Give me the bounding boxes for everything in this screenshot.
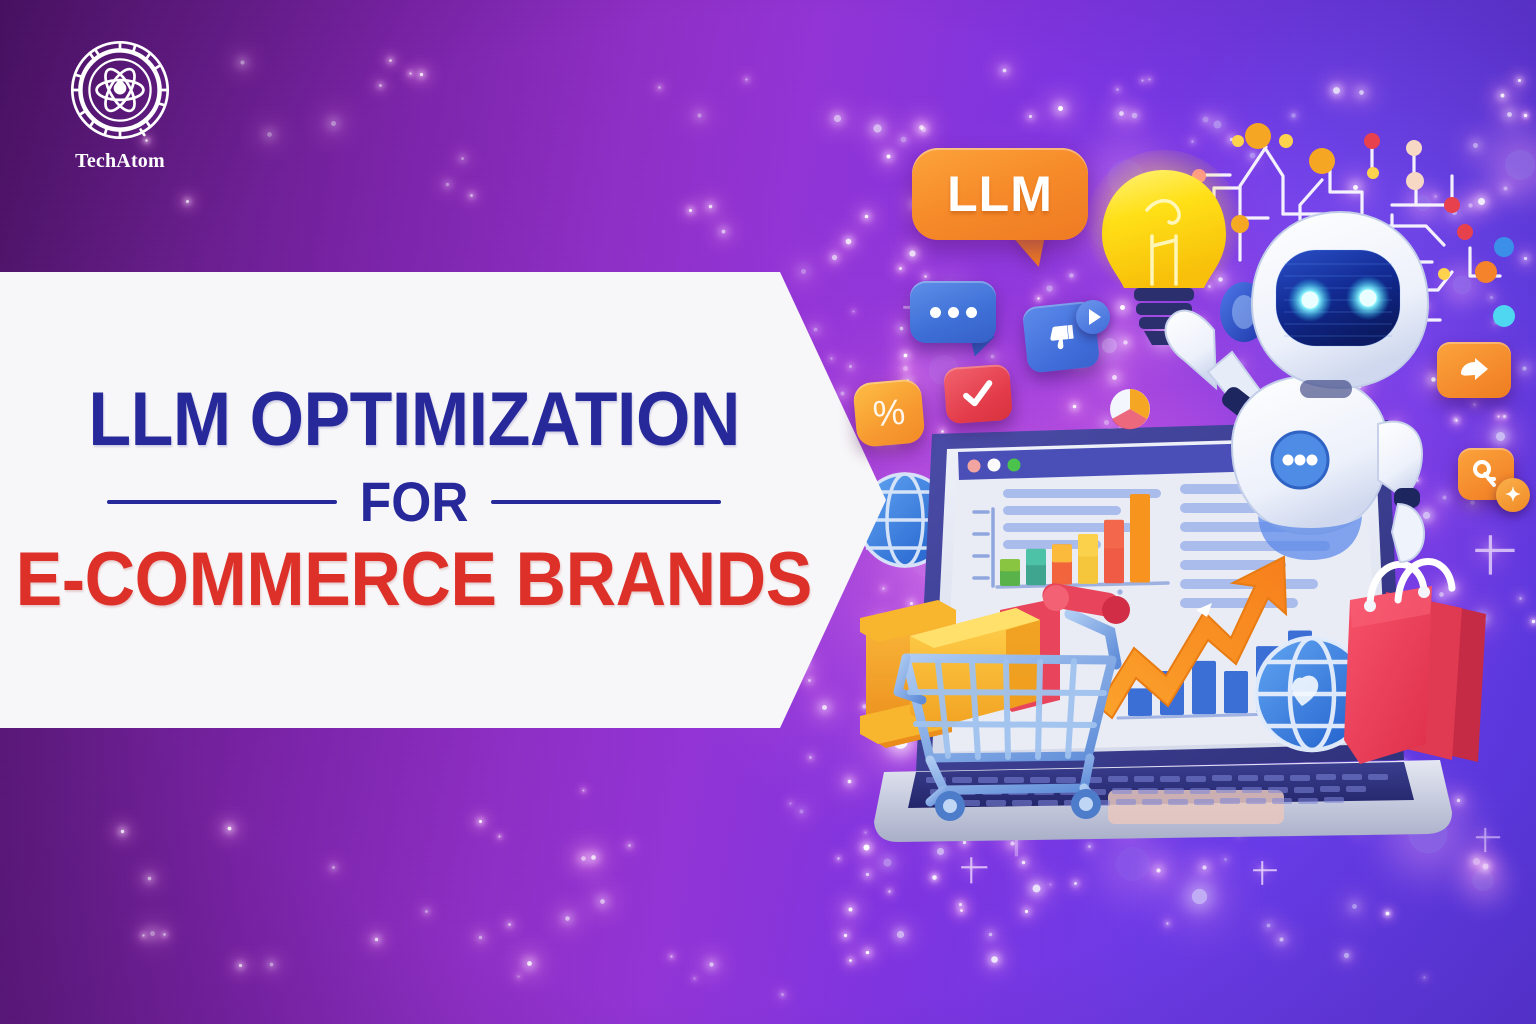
percent-icon[interactable]: %: [852, 378, 925, 448]
brand-logo[interactable]: TechAtom: [60, 36, 180, 173]
chat-dots-icon[interactable]: [910, 281, 996, 343]
play-triangle: [1089, 309, 1101, 325]
bar-top-segment: [1104, 520, 1124, 549]
bar-top-segment: [1078, 534, 1098, 556]
headline-connector: FOR: [360, 474, 469, 530]
divider-left: [107, 500, 337, 504]
divider-right: [491, 500, 721, 504]
browser-dot-green: [1008, 459, 1021, 472]
percent-glyph: %: [871, 391, 907, 436]
checkmark-icon[interactable]: [943, 364, 1013, 424]
bar-top-segment: [1026, 549, 1046, 565]
headline-panel: LLM OPTIMIZATION FOR E-COMMERCE BRANDS: [0, 272, 886, 728]
atom-circular-emblem-icon: [66, 36, 174, 144]
browser-dot-red: [968, 460, 981, 473]
three-dots-icon: [1283, 455, 1318, 466]
marketing-banner: TechAtom: [0, 0, 1536, 1024]
headline-connector-row: FOR: [64, 474, 764, 530]
share-icon[interactable]: [1437, 342, 1511, 398]
chat-dot-2: [948, 307, 959, 318]
play-icon[interactable]: [1076, 300, 1110, 334]
bar-top-segment: [1130, 494, 1150, 534]
bar-top-segment: [1052, 544, 1072, 562]
brand-name: TechAtom: [75, 150, 165, 173]
share-glyph: [1457, 356, 1491, 384]
headline-content: LLM OPTIMIZATION FOR E-COMMERCE BRANDS: [64, 272, 764, 728]
headline-line-2: E-COMMERCE BRANDS: [16, 542, 812, 618]
chat-dot-3: [966, 307, 977, 318]
sparkle-icon[interactable]: ✦: [1496, 478, 1530, 512]
llm-speech-bubble[interactable]: LLM: [912, 148, 1088, 240]
thumbs-up-glyph: [1042, 318, 1079, 355]
pie-chart-chip-icon: [1110, 389, 1150, 429]
llm-bubble-label: LLM: [947, 165, 1053, 223]
key-glyph: [1471, 459, 1501, 489]
chat-dot-1: [930, 307, 941, 318]
bar-top-segment: [1000, 559, 1020, 571]
bar: [1224, 671, 1248, 713]
checkmark-glyph: [960, 378, 996, 410]
bar: [1128, 688, 1152, 716]
headline-line-1: LLM OPTIMIZATION: [88, 382, 740, 458]
bar: [1192, 661, 1216, 714]
browser-dot-white: [988, 459, 1001, 472]
